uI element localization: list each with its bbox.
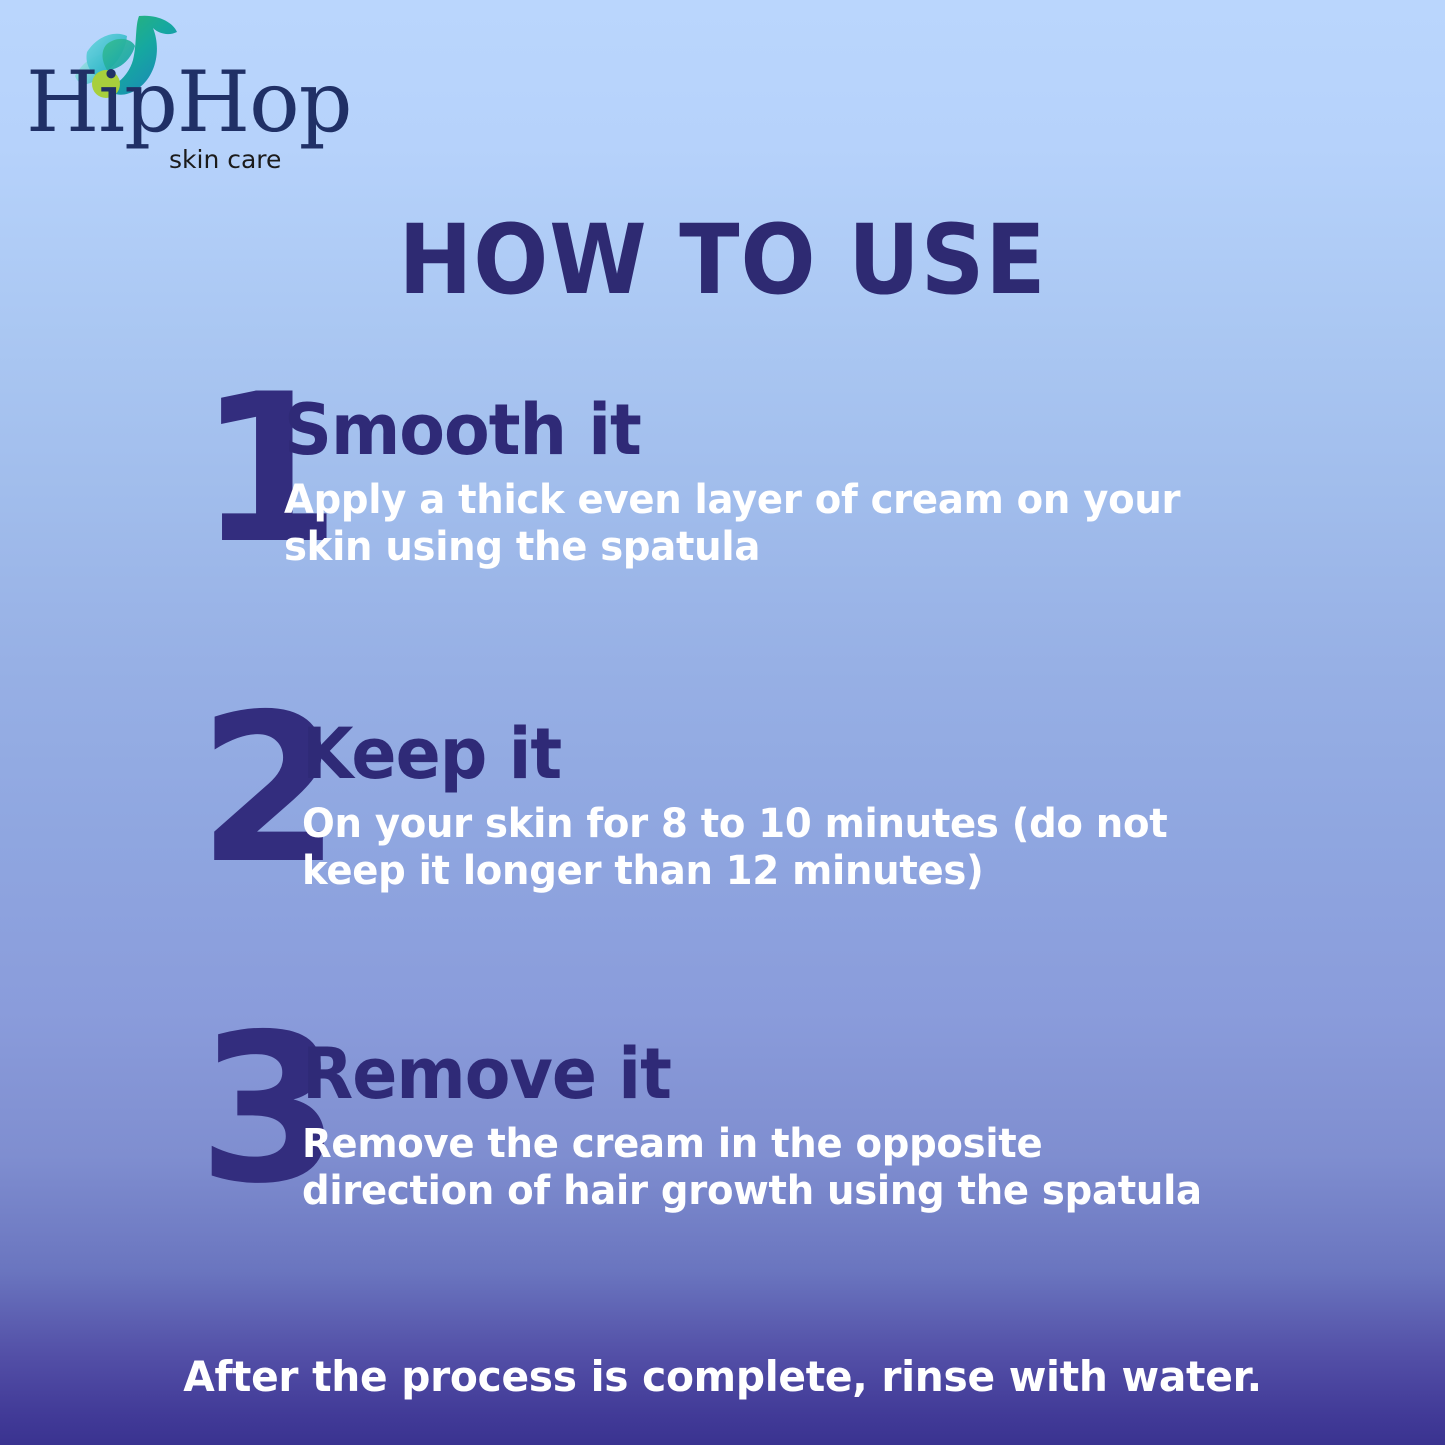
logo-tagline: skin care: [169, 147, 281, 173]
brand-logo: HipHop skin care: [26, 14, 356, 174]
step-description-2: On your skin for 8 to 10 minutes (do not…: [302, 801, 1228, 895]
step-description-1: Apply a thick even layer of cream on you…: [284, 477, 1210, 571]
step-description-3: Remove the cream in the opposite directi…: [302, 1121, 1228, 1215]
logo-wordmark: HipHop: [26, 58, 356, 148]
step-number-3: 3: [198, 1025, 308, 1195]
footer-note: After the process is complete, rinse wit…: [22, 1352, 1424, 1402]
step-heading-2: Keep it: [302, 715, 1214, 793]
step-number-2: 2: [198, 705, 308, 875]
step-heading-1: Smooth it: [284, 391, 1196, 469]
step-heading-3: Remove it: [302, 1035, 1214, 1113]
step-item-2: 2 Keep it On your skin for 8 to 10 minut…: [0, 705, 1445, 1025]
page-title: HOW TO USE: [58, 205, 1387, 315]
steps-list: 1 Smooth it Apply a thick even layer of …: [0, 385, 1445, 1345]
step-content-1: Smooth it Apply a thick even layer of cr…: [284, 391, 1244, 571]
step-content-2: Keep it On your skin for 8 to 10 minutes…: [302, 715, 1262, 895]
step-item-3: 3 Remove it Remove the cream in the oppo…: [0, 1025, 1445, 1345]
step-content-3: Remove it Remove the cream in the opposi…: [302, 1035, 1262, 1215]
how-to-use-poster: HipHop skin care HOW TO USE 1 Smooth it …: [0, 0, 1445, 1445]
step-item-1: 1 Smooth it Apply a thick even layer of …: [0, 385, 1445, 705]
